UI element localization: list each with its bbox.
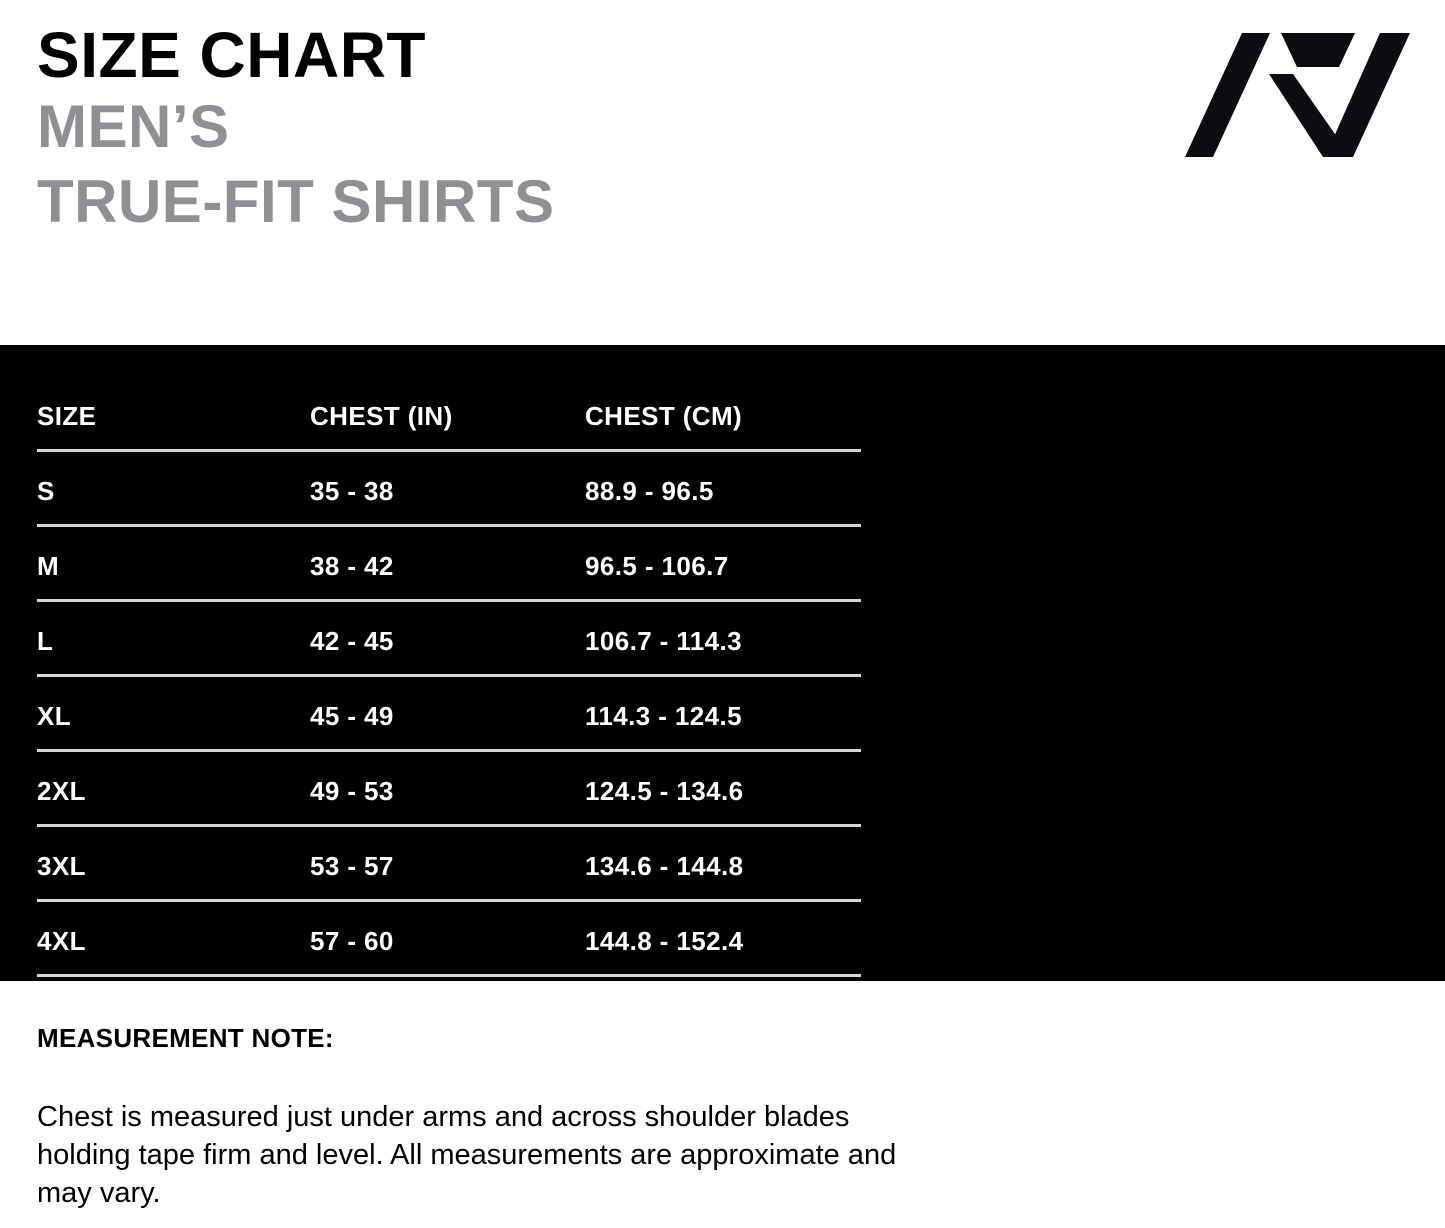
column-header-chest-cm: CHEST (CM)	[585, 401, 861, 432]
cell-size: XL	[37, 701, 310, 732]
cell-size: 3XL	[37, 851, 310, 882]
cell-chest-cm: 124.5 - 134.6	[585, 776, 861, 807]
cell-chest-in: 35 - 38	[310, 476, 585, 507]
row-divider	[37, 974, 861, 977]
size-table: SIZE CHEST (IN) CHEST (CM) S 35 - 38 88.…	[37, 380, 861, 977]
cell-size: S	[37, 476, 310, 507]
cell-size: L	[37, 626, 310, 657]
table-row: M 38 - 42 96.5 - 106.7	[37, 527, 861, 582]
cell-chest-in: 49 - 53	[310, 776, 585, 807]
table-row: 2XL 49 - 53 124.5 - 134.6	[37, 752, 861, 807]
table-row: XL 45 - 49 114.3 - 124.5	[37, 677, 861, 732]
cell-chest-in: 42 - 45	[310, 626, 585, 657]
a7-logo	[1185, 30, 1410, 160]
table-row: 4XL 57 - 60 144.8 - 152.4	[37, 902, 861, 957]
page-subtitle-line2: TRUE-FIT SHIRTS	[37, 164, 554, 239]
cell-chest-cm: 144.8 - 152.4	[585, 926, 861, 957]
cell-chest-in: 38 - 42	[310, 551, 585, 582]
measurement-note-section: MEASUREMENT NOTE: Chest is measured just…	[0, 981, 1445, 1212]
cell-chest-cm: 114.3 - 124.5	[585, 701, 861, 732]
column-header-chest-in: CHEST (IN)	[310, 401, 585, 432]
cell-size: 2XL	[37, 776, 310, 807]
size-table-panel: SIZE CHEST (IN) CHEST (CM) S 35 - 38 88.…	[0, 345, 1445, 981]
table-body: S 35 - 38 88.9 - 96.5 M 38 - 42 96.5 - 1…	[37, 452, 861, 977]
cell-chest-in: 57 - 60	[310, 926, 585, 957]
table-header-row: SIZE CHEST (IN) CHEST (CM)	[37, 380, 861, 432]
cell-size: M	[37, 551, 310, 582]
cell-chest-in: 53 - 57	[310, 851, 585, 882]
table-row: S 35 - 38 88.9 - 96.5	[37, 452, 861, 507]
cell-chest-cm: 96.5 - 106.7	[585, 551, 861, 582]
page-header: SIZE CHART MEN’S TRUE-FIT SHIRTS	[0, 0, 1445, 345]
page-subtitle-line1: MEN’S	[37, 89, 554, 164]
page-title: SIZE CHART	[37, 22, 554, 89]
column-header-size: SIZE	[37, 401, 310, 432]
table-row: 3XL 53 - 57 134.6 - 144.8	[37, 827, 861, 882]
cell-size: 4XL	[37, 926, 310, 957]
measurement-note-body: Chest is measured just under arms and ac…	[37, 1098, 917, 1212]
cell-chest-cm: 134.6 - 144.8	[585, 851, 861, 882]
cell-chest-cm: 88.9 - 96.5	[585, 476, 861, 507]
measurement-note-heading: MEASUREMENT NOTE:	[37, 1023, 1408, 1054]
table-row: L 42 - 45 106.7 - 114.3	[37, 602, 861, 657]
title-block: SIZE CHART MEN’S TRUE-FIT SHIRTS	[37, 22, 554, 239]
cell-chest-in: 45 - 49	[310, 701, 585, 732]
cell-chest-cm: 106.7 - 114.3	[585, 626, 861, 657]
